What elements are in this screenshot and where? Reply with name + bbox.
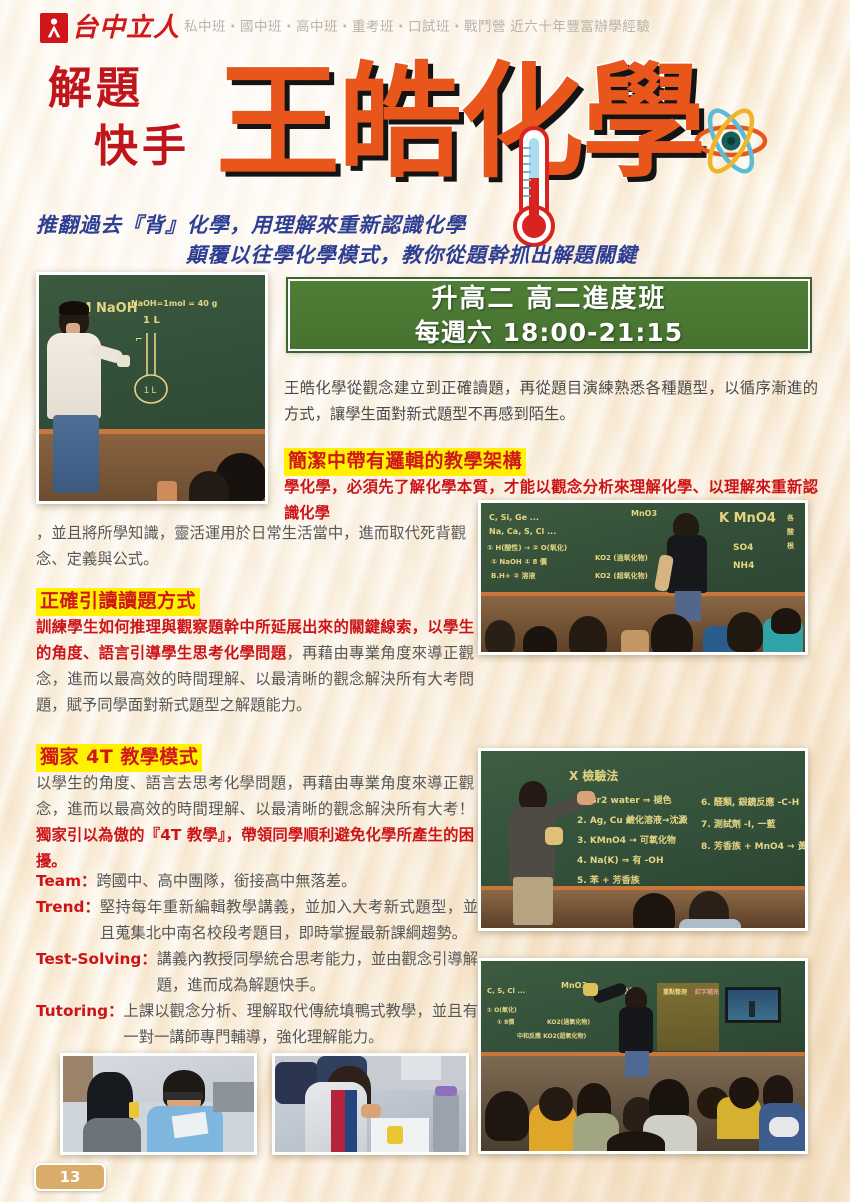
title-band: 解題 快手 王皓化學: [0, 48, 850, 208]
section-1-red-text: 學化學，必須先了解化學本質，才能以觀念分析來理解化學、以理解來重新認識化學: [284, 478, 818, 522]
flyer-page: 台中立人 私中班・國中班・高中班・重考班・口試班・戰鬥營 近六十年豐富辦學經驗 …: [0, 0, 850, 1202]
course-schedule: 每週六 18:00-21:15: [415, 317, 683, 348]
course-name: 升高二 高二進度班: [431, 283, 666, 315]
four-t-value: 上課以觀念分析、理解取代傳統填鴨式教學，並且有一對一講師專門輔導，強化理解能力。: [123, 998, 478, 1050]
four-t-list: Team： 跨國中、高中團隊，銜接高中無落差。 Trend： 堅持每年重新編輯教…: [36, 868, 478, 1050]
brand-logo-text: 台中立人: [72, 13, 180, 43]
slogan-line1: 推翻過去『背』化學，用理解來重新認識化學: [36, 213, 466, 237]
intro-text: 王皓化學從觀念建立到正確讀題，再從題目演練熟悉各種題型，以循序漸進的方式，讓學生…: [284, 379, 818, 423]
section-1-body-gray: ，並且將所學知識，靈活運用於日常生活當中，進而取代死背觀念、定義與公式。: [36, 520, 466, 572]
main-title: 王皓化學: [216, 48, 704, 198]
section-1-gray-text: ，並且將所學知識，靈活運用於日常生活當中，進而取代死背觀念、定義與公式。: [36, 524, 466, 568]
course-info-box: 升高二 高二進度班 每週六 18:00-21:15: [288, 279, 810, 351]
list-item: Trend： 堅持每年重新編輯教學講義，並加入大考新式題型，並且蒐集北中南名校段…: [36, 894, 478, 946]
photo-teacher-naoh-blackboard: 1 M NaOH NaOH=1mol = 40 g 1 L ⌐ 1 L: [36, 272, 268, 504]
section-3-red-text: 獨家引以為傲的『4T 教學』，帶領同學順利避免化學所產生的困擾。: [36, 826, 474, 870]
page-number: 13: [34, 1163, 106, 1191]
section-2-heading-wrap: 正確引讀讀題方式: [36, 588, 476, 616]
brand-tagline: 私中班・國中班・高中班・重考班・口試班・戰鬥營 近六十年豐富辦學經驗: [184, 12, 650, 43]
section-1-heading-wrap: 簡潔中帶有邏輯的教學架構: [284, 448, 818, 476]
section-1-body-red: 學化學，必須先了解化學本質，才能以觀念分析來理解化學、以理解來重新認識化學: [284, 474, 818, 526]
person-mark-icon: [40, 13, 68, 43]
section-3-heading-wrap: 獨家 4T 教學模式: [36, 744, 476, 772]
brand-row: 台中立人 私中班・國中班・高中班・重考班・口試班・戰鬥營 近六十年豐富辦學經驗: [40, 12, 650, 43]
photo-lecture-wide-room: C, S, Cl ... ① O(氧化) ① 8價 KO2(過氧化物) 中和反應…: [478, 958, 808, 1154]
photo-students-lab-2: [272, 1053, 469, 1155]
section-3-heading: 獨家 4T 教學模式: [36, 744, 202, 772]
intro-paragraph: 王皓化學從觀念建立到正確讀題，再從題目演練熟悉各種題型，以循序漸進的方式，讓學生…: [284, 375, 818, 427]
svg-text:1 L: 1 L: [144, 385, 157, 395]
slogan-line2: 顛覆以往學化學模式，教你從題幹抓出解題關鍵: [36, 240, 826, 270]
section-1-heading: 簡潔中帶有邏輯的教學架構: [284, 448, 526, 476]
four-t-value: 講義內教授同學統合思考能力，並由觀念引導解題，進而成為解題快手。: [157, 946, 478, 998]
list-item: Tutoring： 上課以觀念分析、理解取代傳統填鴨式教學，並且有一對一講師專門…: [36, 998, 478, 1050]
four-t-key: Trend：: [36, 894, 100, 920]
side-title: 解題 快手: [48, 60, 190, 176]
list-item: Team： 跨國中、高中團隊，銜接高中無落差。: [36, 868, 478, 894]
photo-teacher-identification-list: X 檢驗法 1. Br2 water ⇒ 褪色 2. Ag, Cu 鹼化溶液→沈…: [478, 748, 808, 931]
four-t-value: 堅持每年重新編輯教學講義，並加入大考新式題型，並且蒐集北中南名校段考題目，即時掌…: [100, 894, 478, 946]
list-item: Test-Solving： 講義內教授同學統合思考能力，並由觀念引導解題，進而成…: [36, 946, 478, 998]
four-t-key: Tutoring：: [36, 998, 123, 1024]
photo-students-lab-1: [60, 1053, 257, 1155]
atom-icon: [690, 100, 772, 182]
section-2-heading: 正確引讀讀題方式: [36, 588, 200, 616]
slogan: 推翻過去『背』化學，用理解來重新認識化學 顛覆以往學化學模式，教你從題幹抓出解題…: [36, 210, 826, 270]
side-title-line1: 解題: [48, 63, 144, 114]
side-title-line2: 快手: [48, 118, 190, 176]
four-t-key: Test-Solving：: [36, 946, 157, 972]
four-t-key: Team：: [36, 868, 96, 894]
section-3-body: 以學生的角度、語言去思考化學問題，再藉由專業角度來導正觀念，進而以最高效的時間理…: [36, 770, 474, 874]
section-3-gray-text: 以學生的角度、語言去思考化學問題，再藉由專業角度來導正觀念，進而以最高效的時間理…: [36, 774, 474, 818]
section-2-body: 訓練學生如何推理與觀察題幹中所延展出來的關鍵線索，以學生的角度、語言引導學生思考…: [36, 614, 474, 718]
four-t-value: 跨國中、高中團隊，銜接高中無落差。: [96, 868, 478, 894]
